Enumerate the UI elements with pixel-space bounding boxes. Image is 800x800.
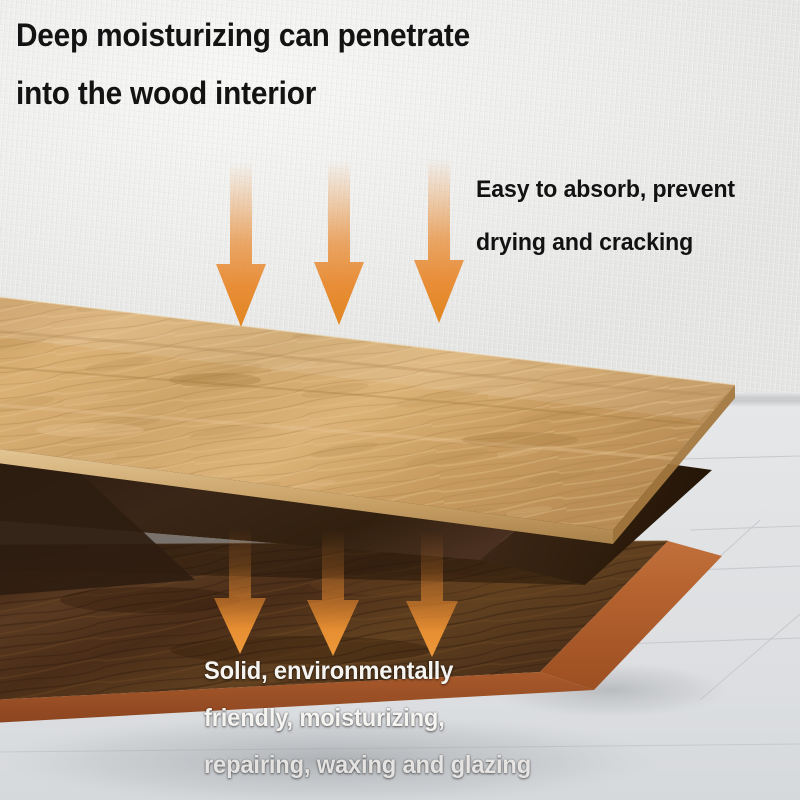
callout-absorb-line-1: Easy to absorb, prevent [476, 163, 793, 216]
headline: Deep moisturizing can penetrate into the… [16, 6, 686, 122]
callout-absorb-line-2: drying and cracking [476, 216, 793, 269]
callout-solid-line-3: repairing, waxing and glazing [204, 742, 774, 789]
callout-solid-line-2: friendly, moisturizing, [204, 695, 774, 742]
product-infographic: Deep moisturizing can penetrate into the… [0, 0, 800, 800]
callout-solid-line-1: Solid, environmentally [204, 648, 774, 695]
callout-absorb: Easy to absorb, prevent drying and crack… [476, 163, 793, 269]
headline-line-2: into the wood interior [16, 64, 686, 122]
callout-solid: Solid, environmentally friendly, moistur… [204, 648, 774, 789]
headline-line-1: Deep moisturizing can penetrate [16, 6, 686, 64]
